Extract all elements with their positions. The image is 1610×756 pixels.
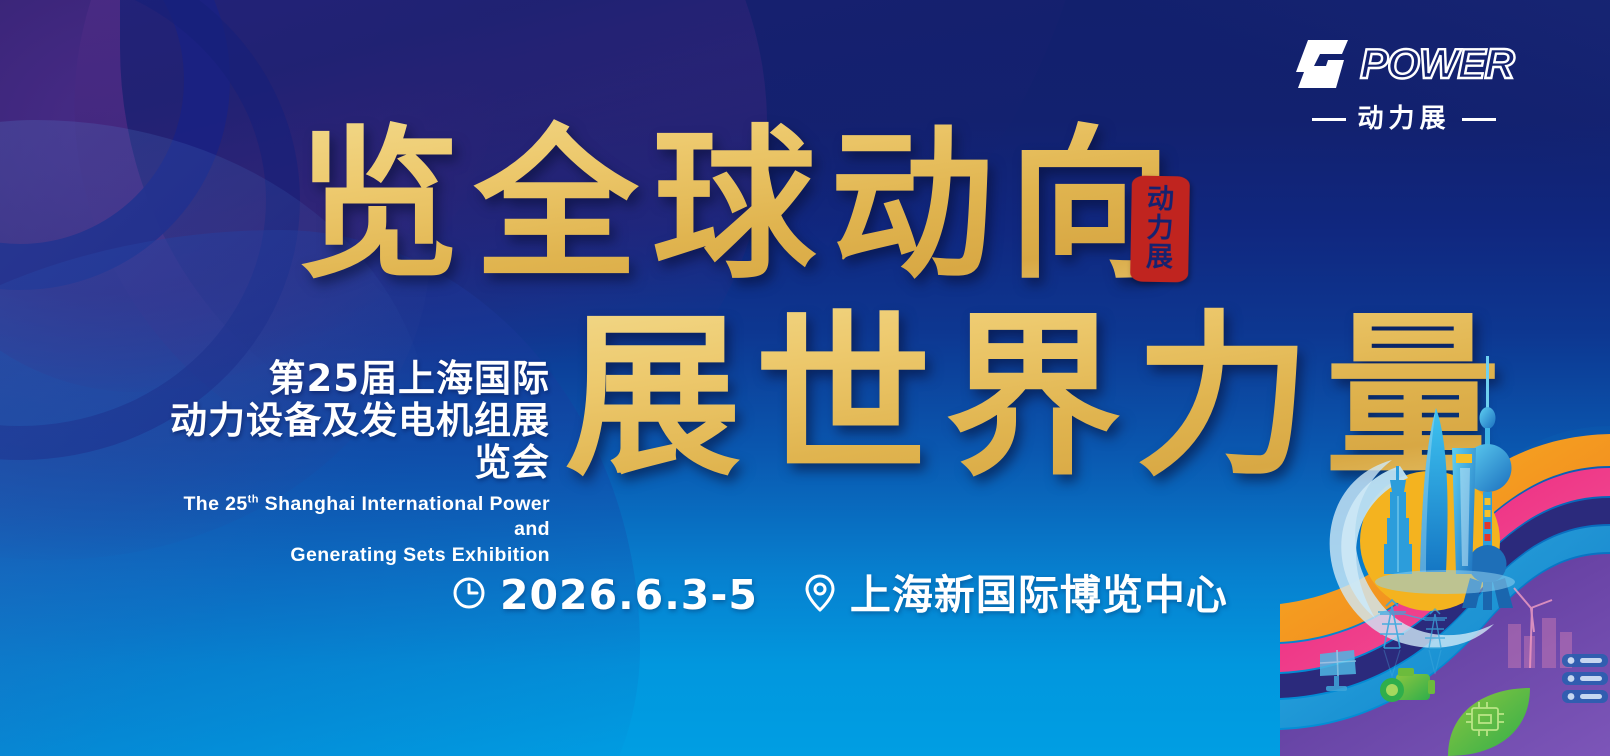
- event-venue: 上海新国际博览中心: [850, 575, 1228, 616]
- red-seal-stamp: 动 力 展: [1130, 176, 1190, 283]
- headline-line-1-text: 览全球动向: [296, 110, 1186, 301]
- logo-wordmark: POWER: [1360, 43, 1514, 85]
- background-ring-navy: [0, 0, 230, 290]
- headline-line-1: 览全球动向: [296, 124, 1176, 334]
- g-power-logo-mark-icon: [1294, 38, 1350, 90]
- exhibition-name-en: The 25th Shanghai International Power an…: [150, 492, 550, 569]
- seal-char-2: 力: [1146, 215, 1173, 244]
- logo-subtitle-row: 动力展: [1294, 106, 1514, 132]
- exhibition-name-en-ordinal: th: [248, 493, 259, 505]
- event-info-bar: 2026.6.3-5 上海新国际博览中心: [452, 573, 1228, 618]
- event-date-item: 2026.6.3-5: [452, 575, 758, 616]
- exhibition-name-en-line2: Generating Sets Exhibition: [290, 544, 550, 566]
- exhibition-name-cn-line1: 第25届上海国际: [150, 358, 550, 400]
- logo-row: POWER: [1294, 38, 1514, 90]
- g-power-logo: POWER 动力展: [1294, 38, 1514, 132]
- event-date: 2026.6.3-5: [500, 575, 758, 616]
- headline-line-2: 展世界力量: [565, 310, 1385, 545]
- exhibition-name-en-line1: Shanghai International Power and: [265, 493, 550, 541]
- seal-char-1: 动: [1147, 186, 1174, 215]
- logo-dash-right-icon: [1462, 118, 1496, 121]
- logo-subtitle: 动力展: [1357, 106, 1450, 132]
- shanghai-skyline-energy-illustration: [1280, 356, 1610, 756]
- seal-char-3: 展: [1146, 244, 1173, 273]
- location-pin-icon: [804, 573, 836, 618]
- exhibition-name-cn-line2: 动力设备及发电机组展览会: [150, 400, 550, 484]
- clock-icon: [452, 576, 486, 615]
- logo-dash-left-icon: [1312, 118, 1346, 121]
- exhibition-name-en-prefix: The 25: [183, 493, 247, 515]
- event-venue-item: 上海新国际博览中心: [804, 573, 1228, 618]
- exhibition-banner: POWER 动力展 览全球动向 动 力 展 展世界力量 第25届上海国际 动力设…: [0, 0, 1610, 756]
- exhibition-name-block: 第25届上海国际 动力设备及发电机组展览会 The 25th Shanghai …: [150, 358, 550, 569]
